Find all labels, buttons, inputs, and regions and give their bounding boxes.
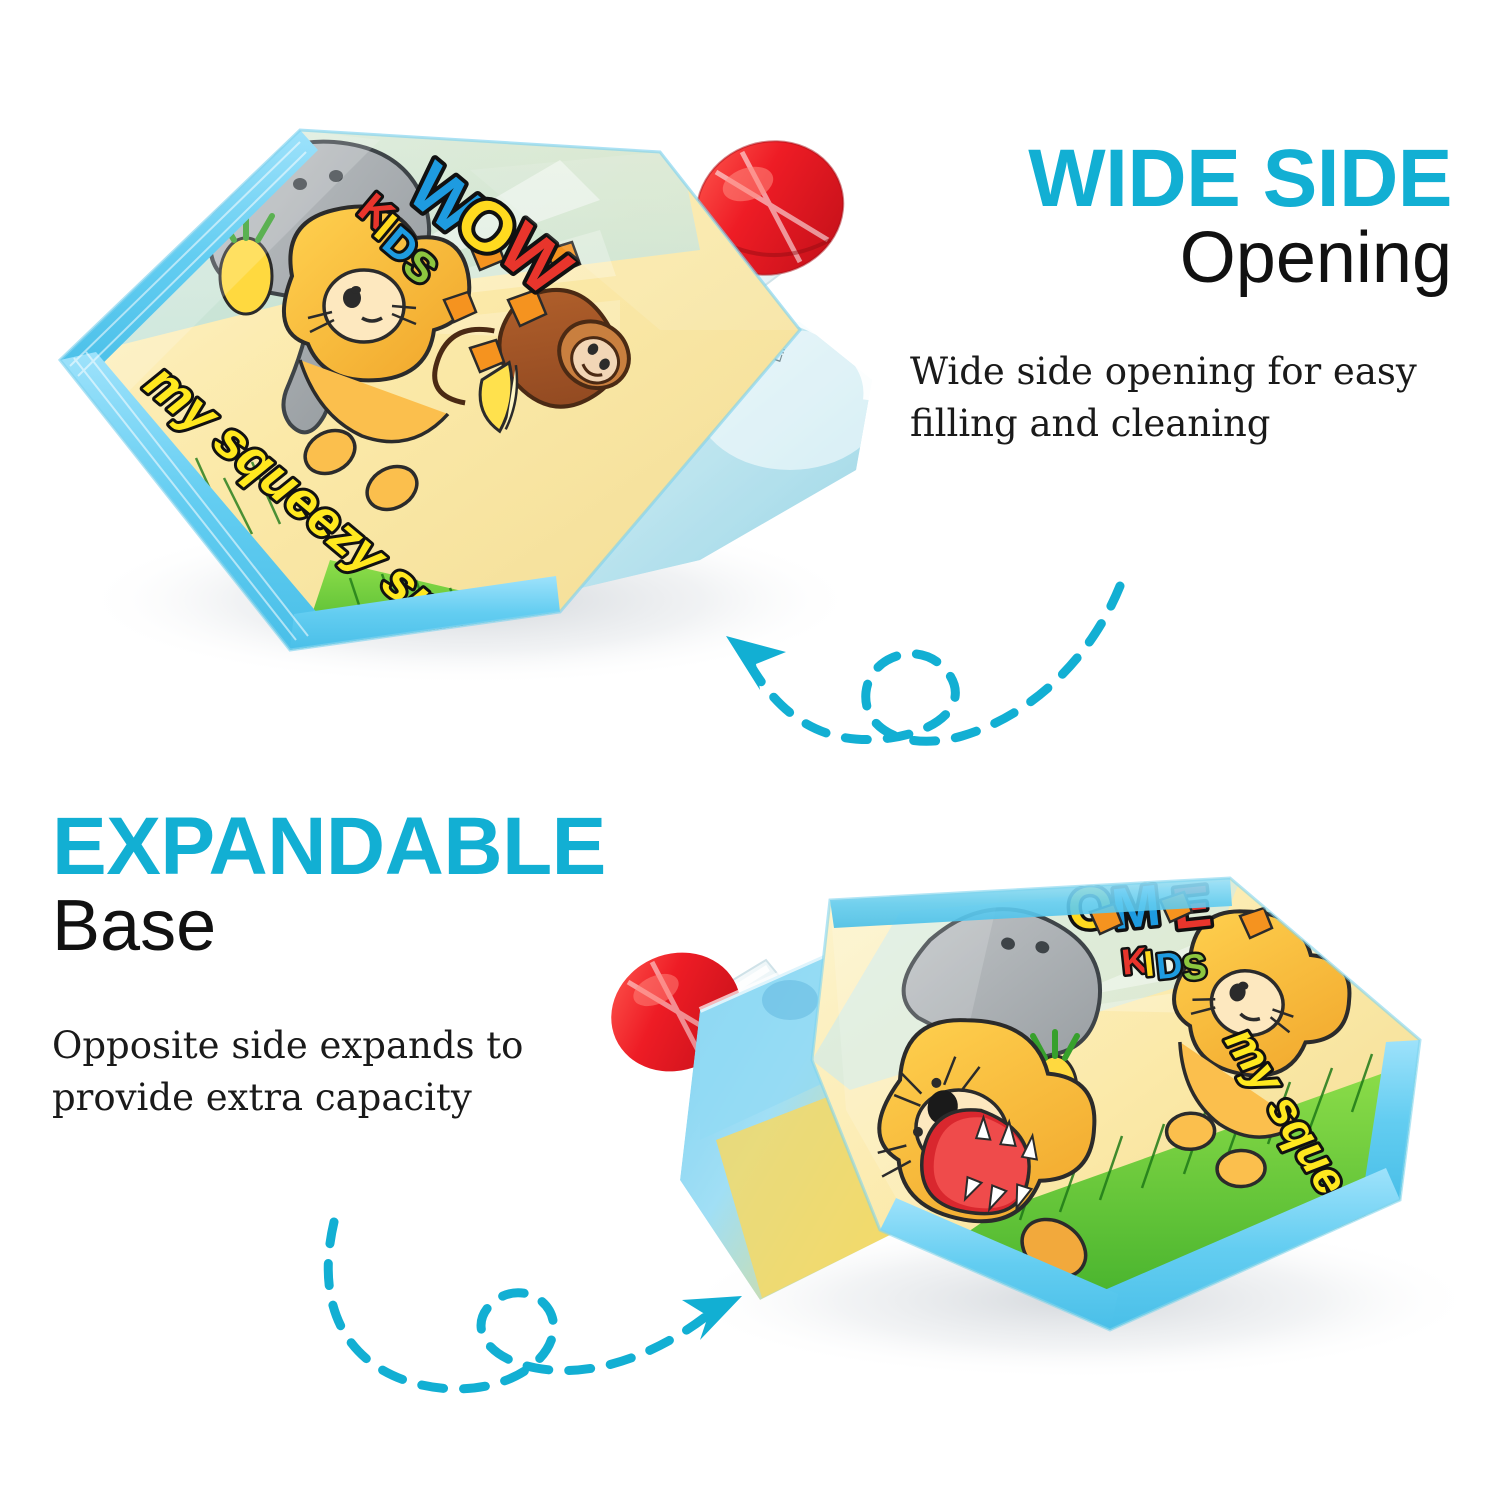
feature-block-expandable-base: EXPANDABLE Base Opposite side expands to… [52,808,732,1125]
subheading-opening: Opening [892,222,1452,294]
feature-block-wide-side-opening: WIDE SIDE Opening Wide side opening for … [892,140,1452,451]
heading-expandable: EXPANDABLE [52,808,732,886]
arrow-wide-side-opening [742,586,1120,741]
arrow-head-right [682,1296,742,1340]
arrow-head-left [726,636,786,690]
infographic-canvas: Fill with yogurt, fruit or ... • Easy to… [0,0,1500,1500]
description-wide-side-opening: Wide side opening for easy filling and c… [910,346,1452,451]
description-expandable-base: Opposite side expands to provide extra c… [52,1020,582,1125]
arrow-expandable-base [328,1222,714,1389]
subheading-base: Base [52,890,732,962]
heading-wide-side: WIDE SIDE [892,140,1452,218]
